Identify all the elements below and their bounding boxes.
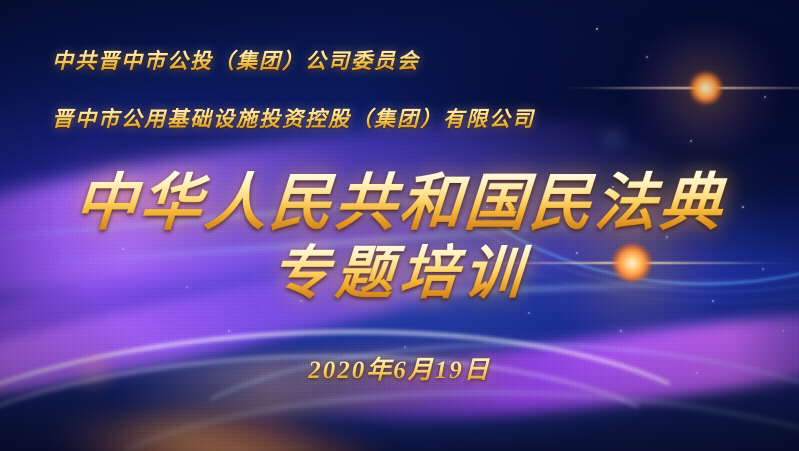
page-title: 中华人民共和国民法典: [0, 170, 799, 238]
presentation-title-slide: 中共晋中市公投（集团）公司委员会 晋中市公用基础设施投资控股（集团）有限公司 中…: [0, 0, 799, 451]
slide-text-content: 中共晋中市公投（集团）公司委员会 晋中市公用基础设施投资控股（集团）有限公司 中…: [0, 0, 799, 451]
organization-line-2: 晋中市公用基础设施投资控股（集团）有限公司: [52, 103, 535, 133]
page-subtitle: 专题培训: [0, 243, 799, 305]
organization-line-1: 中共晋中市公投（集团）公司委员会: [52, 45, 420, 75]
slide-date: 2020年6月19日: [0, 350, 799, 386]
